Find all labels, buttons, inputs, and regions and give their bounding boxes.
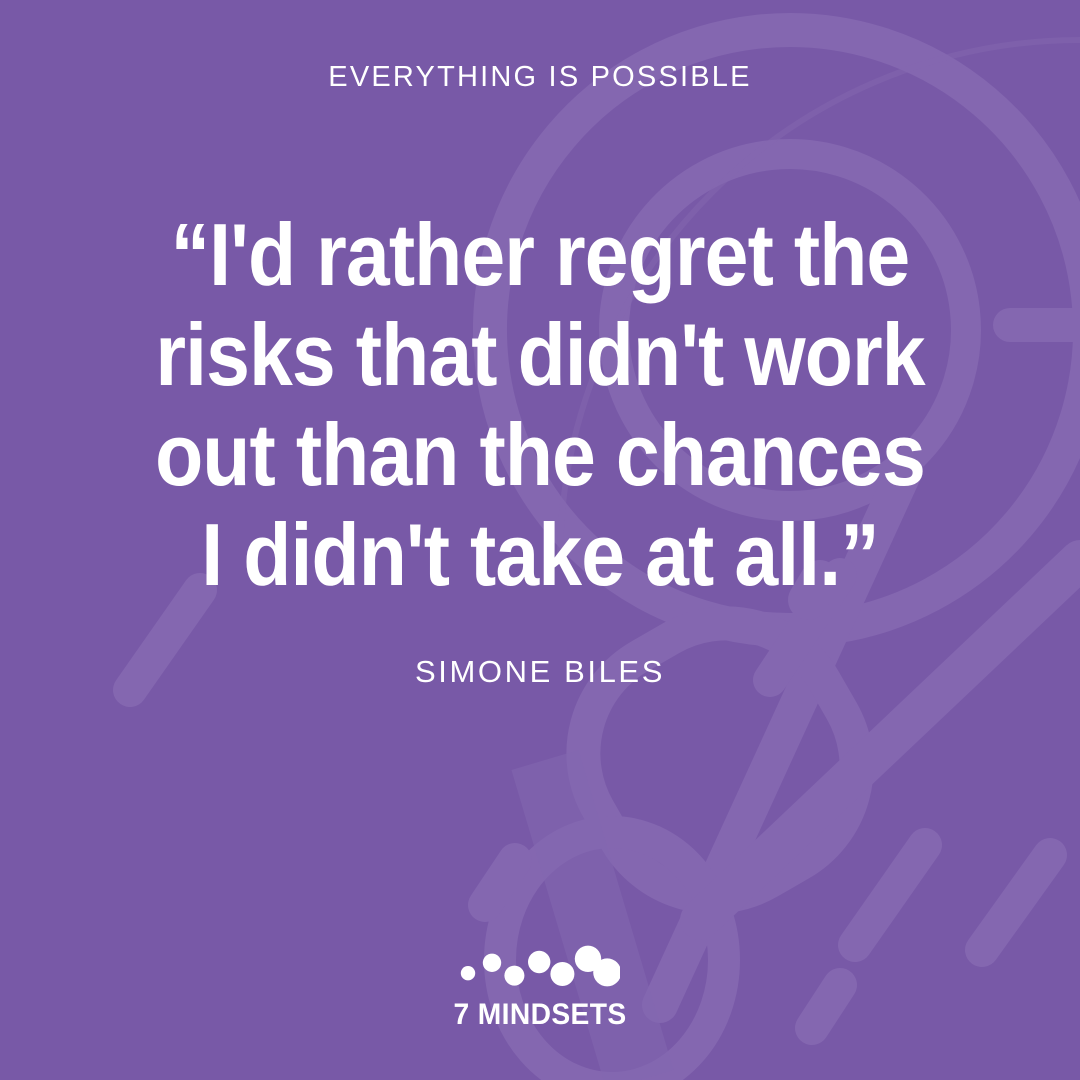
quote-line-1: “I'd rather regret the <box>57 205 1024 305</box>
quote-line-2: risks that didn't work <box>57 305 1024 405</box>
quote-line-3: out than the chances <box>57 405 1024 505</box>
eyebrow-heading: EVERYTHING IS POSSIBLE <box>0 58 1080 96</box>
quote-card: EVERYTHING IS POSSIBLE “I'd rather regre… <box>0 0 1080 1080</box>
quote-line-4: I didn't take at all.” <box>57 505 1024 605</box>
brand-wordmark: 7 MINDSETS <box>454 999 627 1031</box>
question-mark-lower-ring-icon <box>542 582 897 937</box>
brand-logo: 7 MINDSETS <box>0 944 1080 1054</box>
seven-dots-icon <box>460 944 620 988</box>
quote-text: “I'd rather regret the risks that didn't… <box>0 205 1080 605</box>
quote-author: SIMONE BILES <box>0 652 1080 692</box>
sweep-bar-icon <box>700 560 1080 920</box>
